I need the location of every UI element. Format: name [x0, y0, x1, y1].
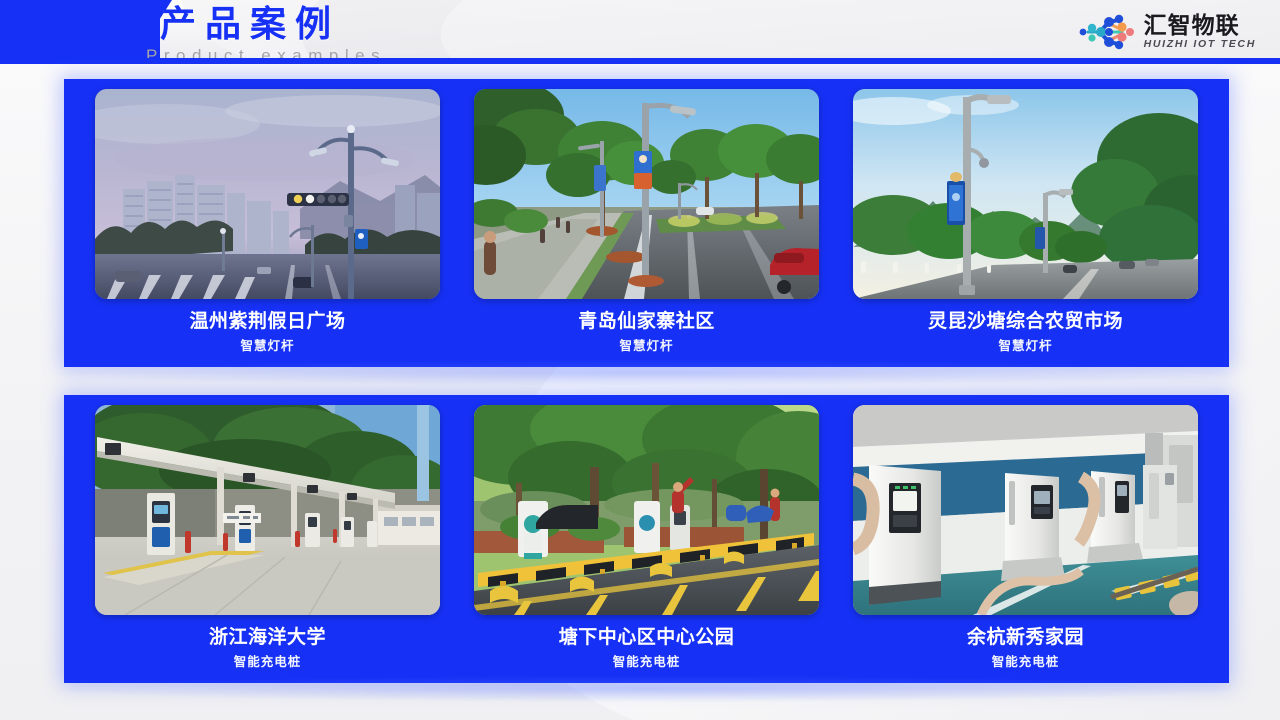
brand-name-en: HUIZHI IOT TECH — [1144, 38, 1256, 51]
case-photo-mountain-road-smart-pole-display — [853, 89, 1198, 299]
case-title: 温州紫荆假日广场 — [189, 310, 345, 334]
case-card[interactable]: 温州紫荆假日广场 智慧灯杆 — [95, 89, 440, 355]
case-subtitle: 智慧灯杆 — [619, 338, 673, 355]
case-title: 灵昆沙塘综合农贸市场 — [928, 310, 1123, 334]
case-title: 青岛仙家寨社区 — [578, 310, 715, 334]
case-card[interactable]: 青岛仙家寨社区 智慧灯杆 — [474, 89, 819, 355]
case-title: 浙江海洋大学 — [209, 626, 326, 650]
case-photo-green-boulevard-smart-pole-render — [474, 89, 819, 299]
case-card-list-row-1: 温州紫荆假日广场 智慧灯杆 — [64, 79, 1229, 367]
case-card[interactable]: 浙江海洋大学 智能充电桩 — [95, 405, 440, 671]
case-subtitle: 智能充电桩 — [234, 654, 302, 671]
case-photo-indoor-garage-charging-cabinets — [853, 405, 1198, 615]
header-underline — [0, 58, 1280, 64]
molecule-network-icon — [1078, 14, 1136, 50]
case-title: 塘下中心区中心公园 — [559, 626, 735, 650]
case-card[interactable]: 塘下中心区中心公园 智能充电桩 — [474, 405, 819, 671]
case-photo-canopy-charging-station-row — [95, 405, 440, 615]
slide-header: 产品案例 Product examples — [0, 0, 1280, 64]
brand-logo: 汇智物联 HUIZHI IOT TECH — [1078, 10, 1256, 54]
brand-text: 汇智物联 HUIZHI IOT TECH — [1144, 13, 1256, 51]
brand-name-zh: 汇智物联 — [1144, 13, 1256, 38]
page-title: 产品案例 — [160, 2, 340, 46]
case-photo-dusk-city-street-smart-pole — [95, 89, 440, 299]
case-card-list-row-2: 浙江海洋大学 智能充电桩 — [64, 395, 1229, 683]
case-card[interactable]: 余杭新秀家园 智能充电桩 — [853, 405, 1198, 671]
case-photo-park-parking-lot-chargers — [474, 405, 819, 615]
case-card[interactable]: 灵昆沙塘综合农贸市场 智慧灯杆 — [853, 89, 1198, 355]
case-panel-row-2: 浙江海洋大学 智能充电桩 — [64, 395, 1229, 683]
case-subtitle: 智能充电桩 — [613, 654, 681, 671]
case-subtitle: 智慧灯杆 — [240, 338, 294, 355]
case-panel-row-1: 温州紫荆假日广场 智慧灯杆 — [64, 79, 1229, 367]
slide-root: 产品案例 Product examples — [0, 0, 1280, 720]
case-subtitle: 智慧灯杆 — [998, 338, 1052, 355]
case-subtitle: 智能充电桩 — [992, 654, 1060, 671]
case-title: 余杭新秀家园 — [967, 626, 1084, 650]
